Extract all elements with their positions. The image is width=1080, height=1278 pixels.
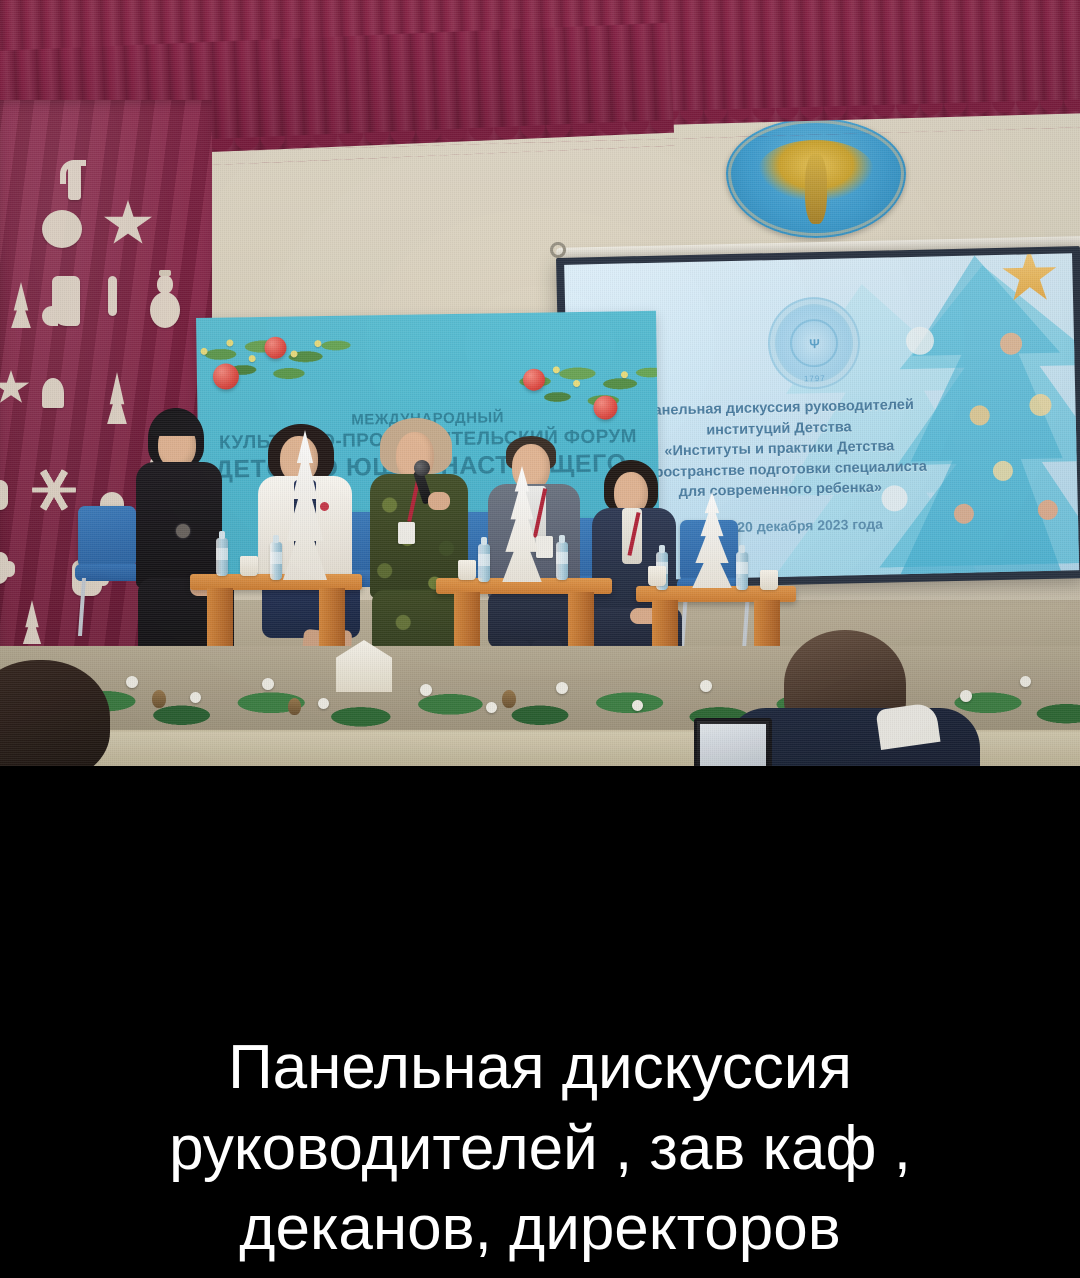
caption-line-2: руководителей , зав каф ,: [169, 1109, 911, 1190]
ornament-boot-icon: [52, 276, 80, 326]
ornament-mitten-icon: [0, 552, 8, 584]
ornament-snowflake-icon: [32, 468, 76, 512]
garland-berry: [318, 698, 329, 709]
ornament-bauble-icon: [42, 378, 64, 408]
social-post: Ψ 1797 Панельная дискуссия руководителей…: [0, 0, 1080, 1278]
ornament-candy-cane-icon: [68, 160, 81, 200]
garland-berry: [126, 676, 138, 688]
garland-pine-cone: [502, 690, 516, 708]
ornament-tree-icon: [20, 600, 44, 644]
water-bottle: [556, 542, 568, 580]
ornament-circle-icon: [42, 210, 82, 248]
garland-berry: [632, 700, 643, 711]
ornament-star-icon: [0, 370, 30, 406]
garland-berry: [700, 680, 712, 692]
audience-tablet: [694, 718, 772, 766]
name-badge: [398, 522, 415, 544]
ornament-tree-icon: [8, 282, 34, 328]
garland-berry: [960, 690, 972, 702]
water-bottle: [478, 544, 490, 582]
conference-photo: Ψ 1797 Панельная дискуссия руководителей…: [0, 0, 1080, 766]
ornament-tree-icon: [104, 372, 130, 424]
garland-pine-cone: [288, 698, 301, 715]
garland-berry: [556, 682, 568, 694]
paper-cup: [458, 560, 476, 580]
ornament-candle-icon: [108, 276, 117, 316]
banner-pine-sprig: [196, 323, 357, 398]
hair: [150, 412, 202, 436]
garland-berry: [420, 684, 432, 696]
name-badge: [536, 536, 553, 558]
paper-cup: [648, 566, 666, 586]
garland-berry: [1020, 676, 1031, 687]
seal-mark: Ψ: [789, 319, 838, 368]
caption-line-1: Панельная дискуссия: [228, 1028, 852, 1109]
paper-cup: [240, 556, 258, 576]
garland-berry: [486, 702, 497, 713]
ornament-snowman-icon: [150, 292, 180, 328]
water-bottle: [736, 552, 748, 590]
garland-pine-cone: [152, 690, 166, 708]
caption-line-3: деканов, директоров: [239, 1189, 840, 1270]
paper-cup: [760, 570, 778, 590]
garland-berry: [190, 692, 201, 703]
ornament-gingerbread-icon: [0, 480, 8, 510]
decor-gingerbread-house: [336, 640, 392, 692]
water-bottle: [216, 538, 228, 576]
post-caption: Панельная дискуссия руководителей , зав …: [0, 766, 1080, 1278]
water-bottle: [270, 542, 282, 580]
university-seal-icon: Ψ 1797: [767, 296, 861, 390]
garland-berry: [262, 678, 274, 690]
ornament-star-icon: [103, 200, 153, 248]
